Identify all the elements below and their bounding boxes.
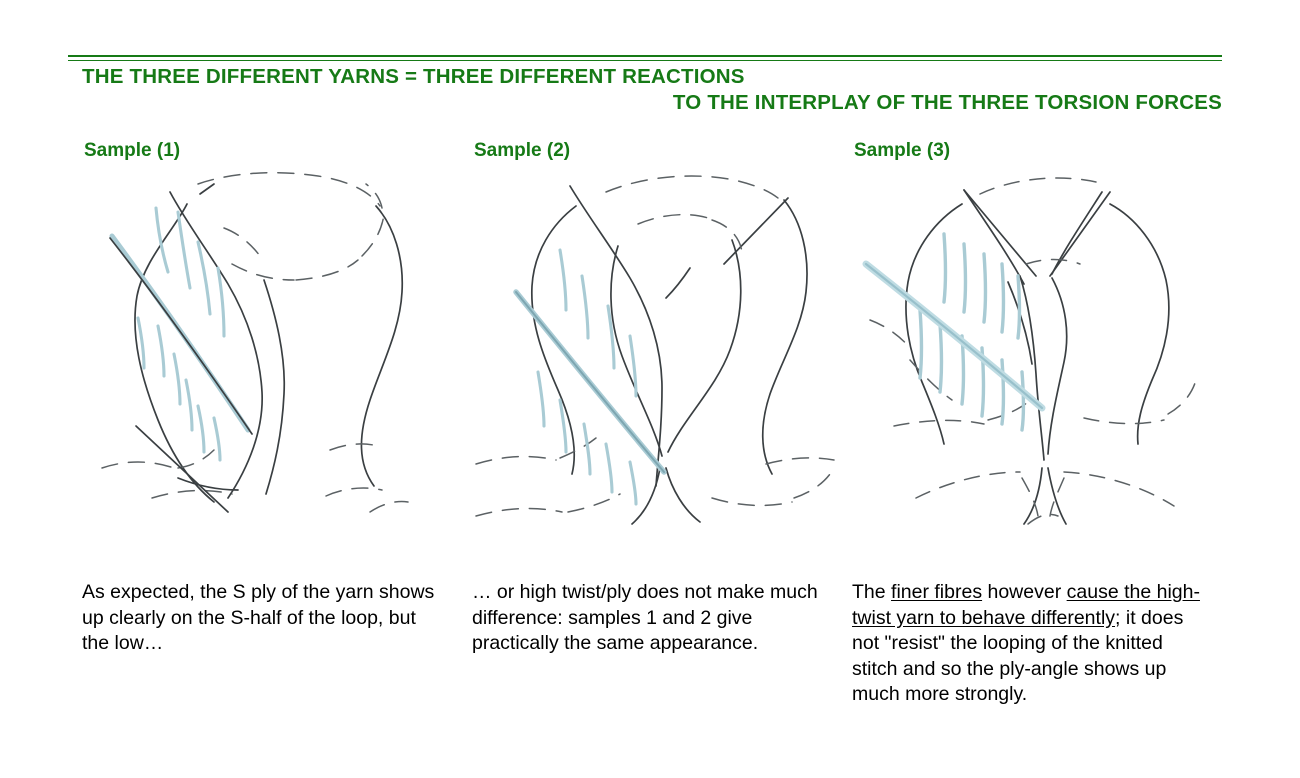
knitted-loop-sketch-sample-3 [852,168,1230,558]
slide-title-line-2: TO THE INTERPLAY OF THE THREE TORSION FO… [68,90,1222,116]
slide-title: THE THREE DIFFERENT YARNS = THREE DIFFER… [68,64,1222,116]
sample-label-2: Sample (2) [474,140,850,164]
sample-label-1: Sample (1) [84,140,460,164]
knitted-loop-sketch-sample-2 [472,168,850,558]
sample-column-1: Sample (1) [82,140,460,558]
sample-caption-3: The finer fibres however cause the high-… [852,580,1212,708]
caption-wrap-2: … or high twist/ply does not make much d… [472,572,840,657]
header-double-rule [68,55,1222,62]
caption-wrap-1: As expected, the S ply of the yarn shows… [82,572,450,657]
caption-run-plain-1: The [852,581,891,603]
caption-run-underline-1: finer fibres [891,581,982,603]
sample-column-3: Sample (3) [852,140,1230,558]
caption-run-plain-2: however [982,581,1067,603]
sample-label-3: Sample (3) [854,140,1230,164]
knitted-loop-sketch-sample-1 [82,168,460,558]
header-rule-thin [68,60,1222,61]
caption-wrap-3: The finer fibres however cause the high-… [852,572,1220,708]
sample-caption-2: … or high twist/ply does not make much d… [472,580,832,657]
slide-title-line-1: THE THREE DIFFERENT YARNS = THREE DIFFER… [68,64,1222,90]
header-rule-thick [68,55,1222,57]
sample-caption-1: As expected, the S ply of the yarn shows… [82,580,442,657]
sample-column-2: Sample (2) [472,140,850,558]
